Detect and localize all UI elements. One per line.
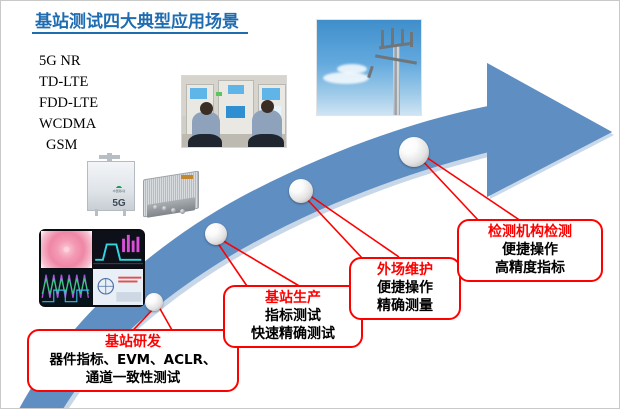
unit-foot <box>95 209 98 216</box>
callout-base-station-production[interactable]: 基站生产 指标测试 快速精确测试 <box>223 285 363 348</box>
callout-title: 检测机构检测 <box>465 223 595 241</box>
waveform-plot <box>41 269 92 306</box>
lab-chair <box>188 134 222 148</box>
lab-chair <box>248 134 284 148</box>
milestone-sphere-rnd[interactable] <box>145 293 163 311</box>
lab-engineer-head <box>261 100 274 113</box>
callout-title: 外场维护 <box>357 261 453 279</box>
callout-title: 基站生产 <box>231 289 355 307</box>
cloud-shape <box>337 64 367 74</box>
callout-field-maintenance[interactable]: 外场维护 便捷操作 精确测量 <box>349 257 461 320</box>
lab-monitor <box>190 88 207 99</box>
callout-testing-institution[interactable]: 检测机构检测 便捷操作 高精度指标 <box>457 219 603 282</box>
rru-label <box>181 175 193 179</box>
unit-foot <box>123 209 126 216</box>
china-mobile-logo-icon <box>108 176 130 188</box>
rru-connector <box>171 208 176 213</box>
software-window <box>93 269 144 306</box>
callout-line: 精确测量 <box>357 297 453 315</box>
callout-line: 通道一致性测试 <box>35 369 231 387</box>
milestone-sphere-lab[interactable] <box>399 137 429 167</box>
spectrum-plot <box>93 231 144 268</box>
tower-antenna <box>401 29 404 46</box>
photo-cell-tower <box>316 19 422 116</box>
measurement-grid <box>41 231 143 305</box>
photo-lab-test-rack <box>181 75 287 148</box>
tower-antenna <box>367 66 374 78</box>
tower-antenna <box>381 30 384 46</box>
photo-measurement-screens <box>39 229 145 307</box>
rru-connector <box>153 205 158 210</box>
lab-status-led <box>216 92 222 96</box>
lab-monitor <box>262 88 280 100</box>
photo-5g-remote-unit: 中国移动 5G <box>79 153 141 217</box>
unit-5g-label: 5G <box>100 198 138 209</box>
photo-rru-heatsink <box>141 171 201 219</box>
callout-base-station-rnd[interactable]: 基站研发 器件指标、EVM、ACLR、 通道一致性测试 <box>27 329 239 392</box>
constellation-plot <box>41 231 92 268</box>
callout-line: 便捷操作 <box>465 241 595 259</box>
callout-line: 高精度指标 <box>465 259 595 277</box>
callout-line: 快速精确测试 <box>231 325 355 343</box>
lab-monitor <box>226 106 245 118</box>
callout-line: 指标测试 <box>231 307 355 325</box>
lab-monitor <box>228 85 244 94</box>
callout-title: 基站研发 <box>35 333 231 351</box>
rru-connector <box>162 206 167 211</box>
callout-line: 器件指标、EVM、ACLR、 <box>35 351 231 369</box>
tower-antenna <box>391 28 394 46</box>
milestone-sphere-production[interactable] <box>205 223 227 245</box>
arrow-head-top <box>487 63 612 197</box>
cloud-shape <box>323 72 369 84</box>
slide-canvas: 基站测试四大典型应用场景 5G NR TD-LTE FDD-LTE WCDMA … <box>0 0 620 409</box>
rru-connector <box>180 209 185 214</box>
lab-engineer-head <box>200 102 213 115</box>
carrier-name-cn: 中国移动 <box>100 189 138 193</box>
unit-body: 中国移动 5G <box>87 161 135 211</box>
milestone-sphere-field[interactable] <box>289 179 313 203</box>
tower-mast <box>393 44 400 116</box>
tower-antenna <box>410 32 413 47</box>
callout-line: 便捷操作 <box>357 279 453 297</box>
unit-mount-bar <box>99 155 120 159</box>
